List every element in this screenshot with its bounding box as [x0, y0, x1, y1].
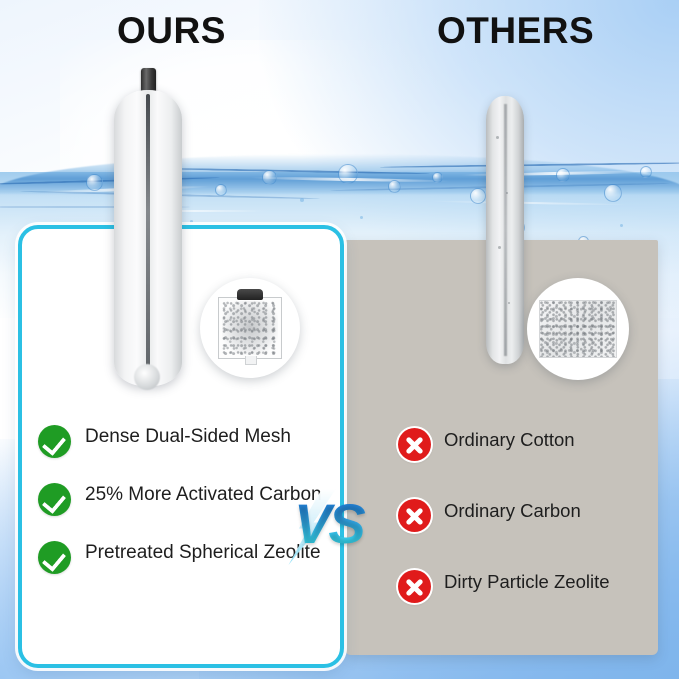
list-item: Dense Dual-Sided Mesh — [38, 425, 323, 458]
bubble-icon — [432, 172, 443, 183]
water-droplet — [620, 224, 623, 227]
cotton-pad-swatch-icon — [539, 300, 617, 358]
feature-label: Ordinary Cotton — [444, 428, 575, 452]
water-droplet — [360, 216, 363, 219]
bubble-icon — [215, 184, 227, 196]
filter-pad-body — [114, 90, 182, 386]
pad-speck — [498, 246, 501, 249]
comparison-graphic: OURS OTHERS Dense Dual-Sided Mesh — [0, 0, 679, 679]
water-droplet — [300, 198, 304, 202]
filter-pad-body — [486, 96, 524, 364]
feature-label: Dense Dual-Sided Mesh — [85, 425, 291, 449]
water-droplet — [190, 220, 193, 223]
cartridge-foot — [245, 356, 257, 365]
ours-product-inset — [200, 278, 300, 378]
feature-label: Dirty Particle Zeolite — [444, 570, 610, 594]
list-item: 25% More Activated Carbon — [38, 483, 323, 516]
filter-cartridge-icon — [218, 297, 282, 359]
list-item: Ordinary Carbon — [398, 499, 653, 532]
pad-speck — [506, 192, 508, 194]
filter-pad-tip — [134, 364, 160, 390]
list-item: Pretreated Spherical Zeolite — [38, 541, 323, 574]
bubble-icon — [556, 168, 570, 182]
pad-speck — [508, 302, 510, 304]
pad-speck — [496, 136, 499, 139]
others-product-inset — [527, 278, 629, 380]
bubble-icon — [262, 170, 277, 185]
check-circle-icon — [38, 425, 71, 458]
heading-others: OTHERS — [437, 10, 594, 52]
bubble-icon — [388, 180, 401, 193]
x-circle-icon — [398, 428, 431, 461]
hanging-filter-pad-ours — [108, 68, 188, 388]
feature-label: 25% More Activated Carbon — [85, 483, 322, 507]
others-feature-list: Ordinary Cotton Ordinary Carbon Dirty Pa… — [398, 428, 653, 641]
heading-ours: OURS — [117, 10, 226, 52]
bubble-icon — [338, 164, 358, 184]
cartridge-clip-icon — [237, 289, 263, 300]
x-circle-icon — [398, 499, 431, 532]
bubble-icon — [86, 174, 103, 191]
list-item: Dirty Particle Zeolite — [398, 570, 653, 603]
bubble-icon — [604, 184, 622, 202]
hanging-filter-pad-others — [482, 96, 528, 364]
list-item: Ordinary Cotton — [398, 428, 653, 461]
feature-label: Ordinary Carbon — [444, 499, 581, 523]
ours-feature-list: Dense Dual-Sided Mesh 25% More Activated… — [38, 425, 323, 599]
check-circle-icon — [38, 483, 71, 516]
check-circle-icon — [38, 541, 71, 574]
activated-carbon-fill — [222, 301, 278, 355]
feature-label: Pretreated Spherical Zeolite — [85, 541, 321, 565]
bubble-icon — [640, 166, 652, 178]
x-circle-icon — [398, 570, 431, 603]
